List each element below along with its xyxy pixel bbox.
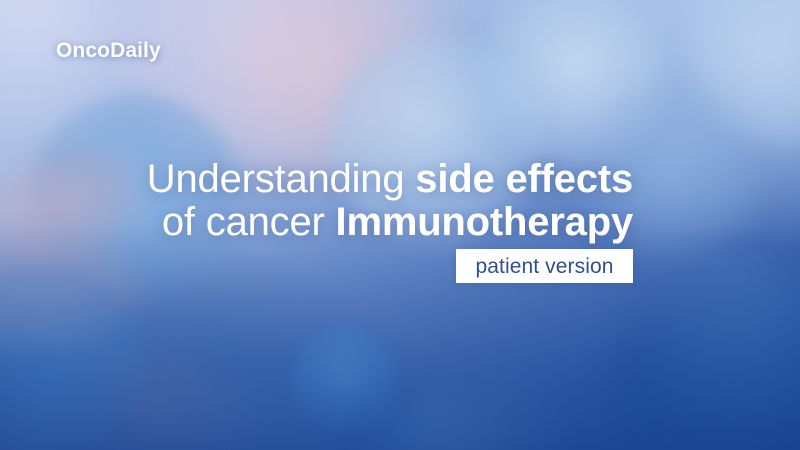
headline: Understanding side effects of cancer Imm… [113,158,633,244]
headline-line-1-light: Understanding [147,157,416,201]
headline-line-2-light: of cancer [162,200,336,244]
brand-logo-text: OncoDaily [56,39,161,62]
title-card: OncoDaily Understanding side effects of … [0,0,800,450]
headline-line-1: Understanding side effects [113,158,633,201]
headline-line-1-bold: side effects [415,157,633,201]
patient-version-badge-label: patient version [475,256,613,277]
patient-version-badge: patient version [456,249,633,283]
headline-line-2-bold: Immunotherapy [336,200,633,244]
brand-logo: OncoDaily [56,40,161,61]
headline-line-2: of cancer Immunotherapy [113,201,633,244]
